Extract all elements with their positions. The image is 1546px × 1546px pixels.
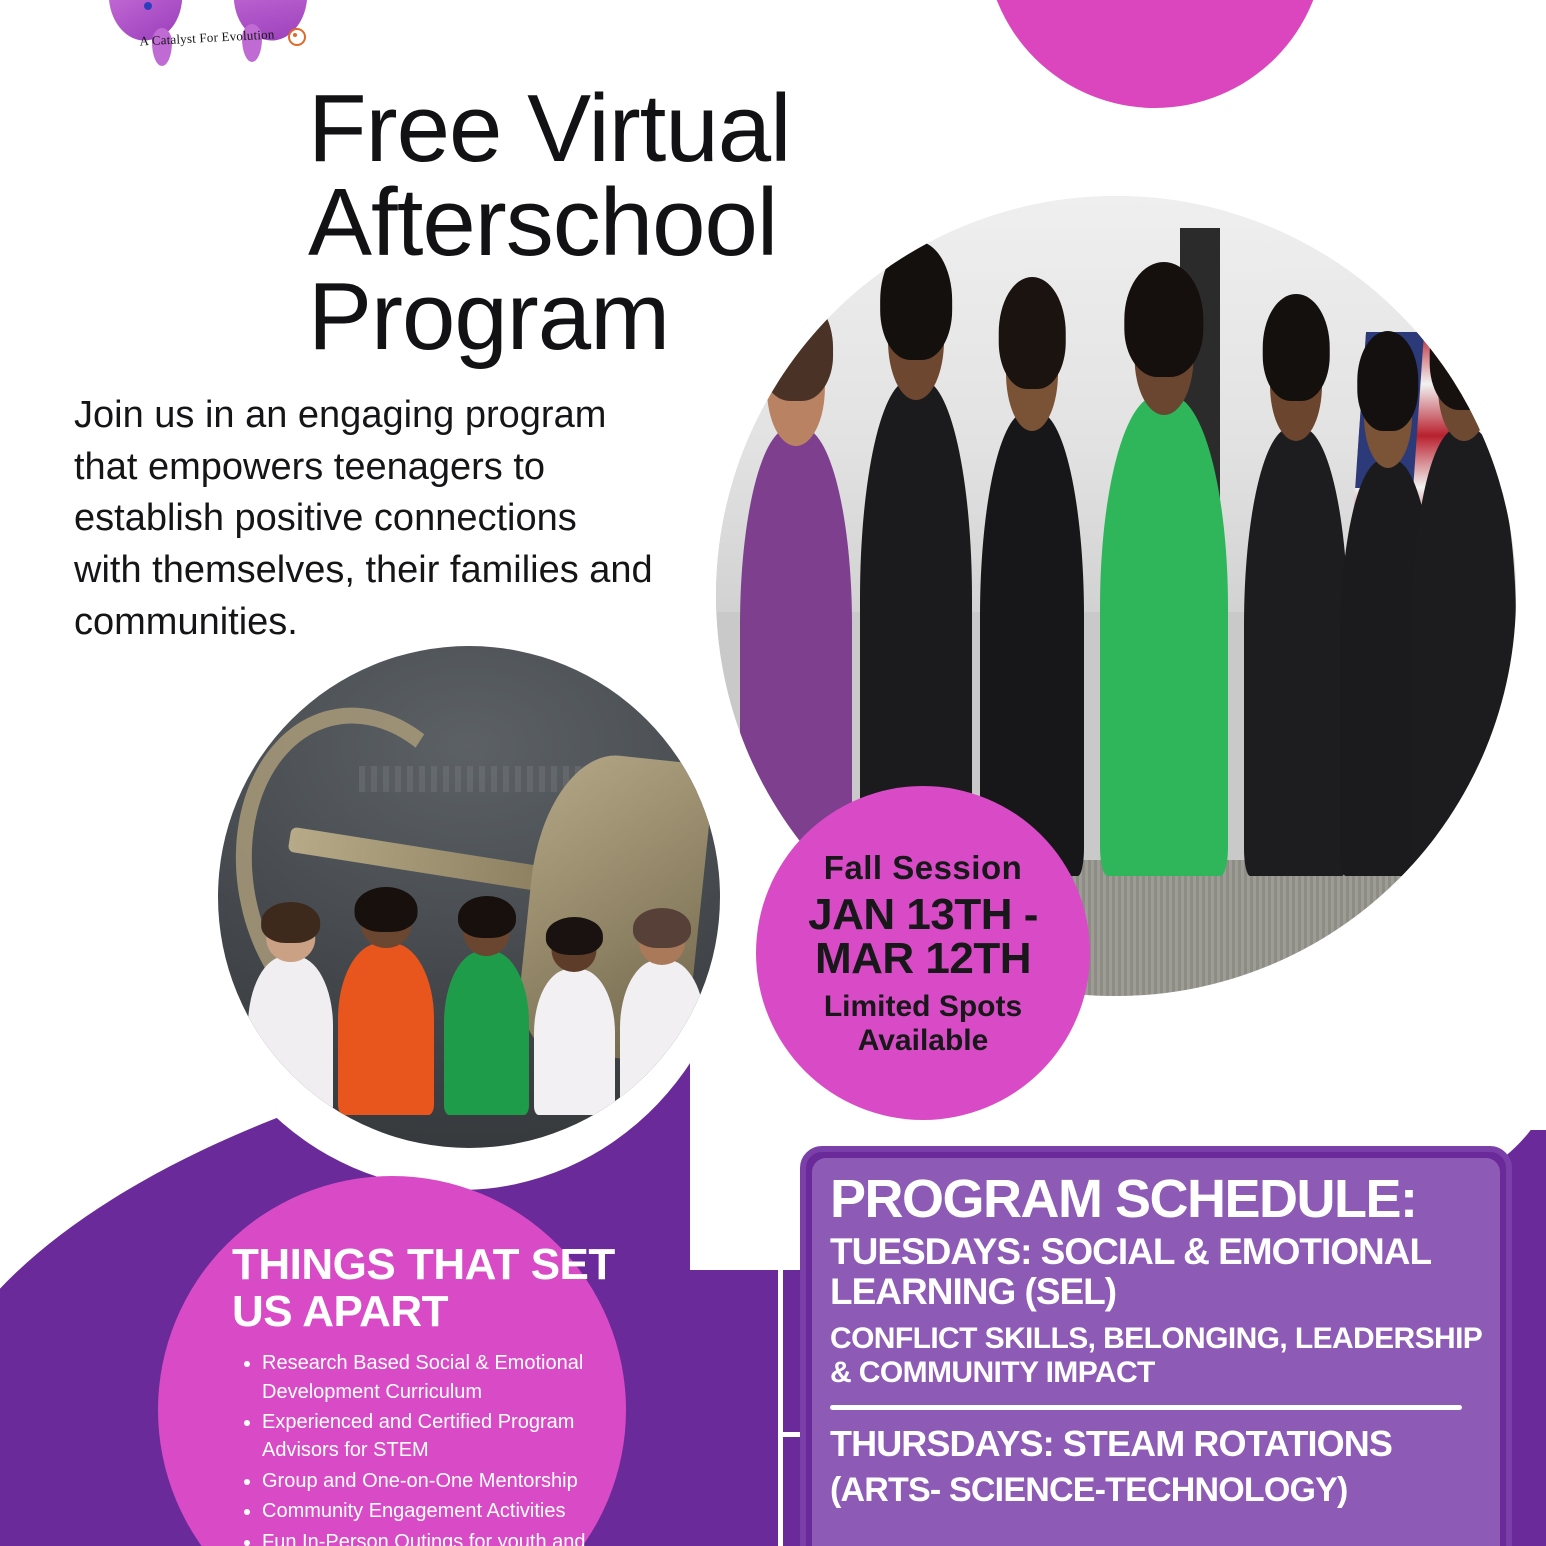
butterfly-logo: A Catalyst For Evolution bbox=[100, 0, 314, 64]
flyer-canvas: A Catalyst For Evolution Free Virtual Af… bbox=[0, 0, 1546, 1546]
bracket-horizontal-tick bbox=[778, 1432, 802, 1437]
program-schedule-panel: PROGRAM SCHEDULE: TUESDAYS: SOCIAL & EMO… bbox=[800, 1146, 1512, 1546]
session-badge: Fall Session JAN 13TH - MAR 12TH Limited… bbox=[756, 786, 1090, 1120]
session-label: Fall Session bbox=[824, 849, 1023, 887]
list-item: Research Based Social & Emotional Develo… bbox=[262, 1349, 632, 1406]
photo-baseball-statue-outing bbox=[218, 646, 720, 1148]
program-schedule-inner: PROGRAM SCHEDULE: TUESDAYS: SOCIAL & EMO… bbox=[812, 1158, 1500, 1546]
set-us-apart-list: Research Based Social & Emotional Develo… bbox=[232, 1349, 632, 1546]
schedule-tuesday-detail: CONFLICT SKILLS, BELONGING, LEADERSHIP &… bbox=[830, 1322, 1482, 1389]
page-title: Free Virtual Afterschool Program bbox=[308, 82, 948, 364]
list-item: Experienced and Certified Program Adviso… bbox=[262, 1408, 632, 1465]
intro-paragraph: Join us in an engaging program that empo… bbox=[74, 390, 654, 648]
set-us-apart-title: THINGS THAT SET US APART bbox=[232, 1242, 632, 1335]
session-dates: JAN 13TH - MAR 12TH bbox=[770, 893, 1076, 983]
schedule-thursday-heading: THURSDAYS: STEAM ROTATIONS bbox=[830, 1424, 1482, 1464]
list-item: Fun In-Person Outings for youth and fami… bbox=[262, 1528, 632, 1546]
list-item: Community Engagement Activities bbox=[262, 1497, 632, 1525]
list-item: Group and One-on-One Mentorship bbox=[262, 1467, 632, 1495]
limited-spots-note: Limited Spots Available bbox=[770, 990, 1076, 1057]
schedule-thursday-detail: (ARTS- SCIENCE-TECHNOLOGY) bbox=[830, 1472, 1482, 1509]
schedule-tuesday-heading: TUESDAYS: SOCIAL & EMOTIONAL LEARNING (S… bbox=[830, 1232, 1482, 1312]
schedule-divider bbox=[830, 1405, 1462, 1410]
pink-circle-top-right bbox=[985, 0, 1325, 108]
registered-icon bbox=[288, 28, 306, 46]
bracket-vertical-rule bbox=[778, 1212, 783, 1546]
schedule-title: PROGRAM SCHEDULE: bbox=[830, 1172, 1482, 1226]
set-us-apart-section: THINGS THAT SET US APART Research Based … bbox=[232, 1242, 632, 1546]
